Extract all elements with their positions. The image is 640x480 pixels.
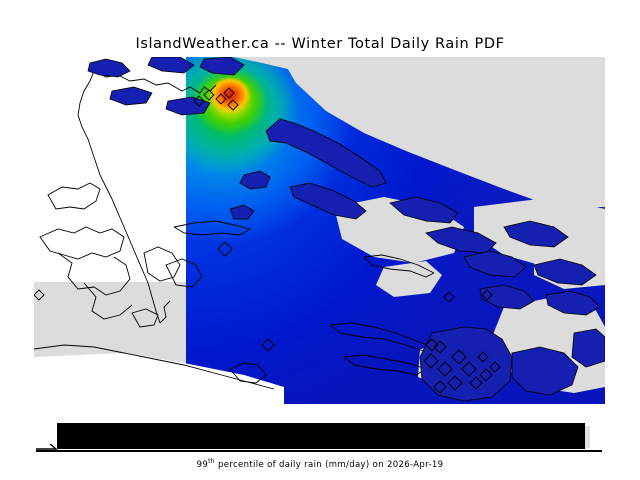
colorbar-end-cap bbox=[585, 426, 590, 448]
caption-percentile-suffix: th bbox=[208, 458, 215, 465]
colorbar-caption: 99th percentile of daily rain (mm/day) o… bbox=[0, 458, 640, 470]
no-data-region bbox=[34, 57, 187, 282]
caption-percentile-number: 99 bbox=[197, 460, 209, 470]
rainfall-raster-field bbox=[186, 57, 605, 404]
colorbar-baseline bbox=[36, 450, 602, 452]
map-panel bbox=[34, 57, 605, 404]
colorbar bbox=[57, 423, 585, 449]
colorbar-gradient bbox=[57, 423, 585, 449]
colorbar-arrow-icon bbox=[36, 444, 58, 451]
caption-middle-text: percentile of daily rain (mm/day) on bbox=[215, 460, 387, 470]
caption-date: 2026-Apr-19 bbox=[387, 460, 443, 470]
page-title: IslandWeather.ca -- Winter Total Daily R… bbox=[0, 36, 640, 52]
